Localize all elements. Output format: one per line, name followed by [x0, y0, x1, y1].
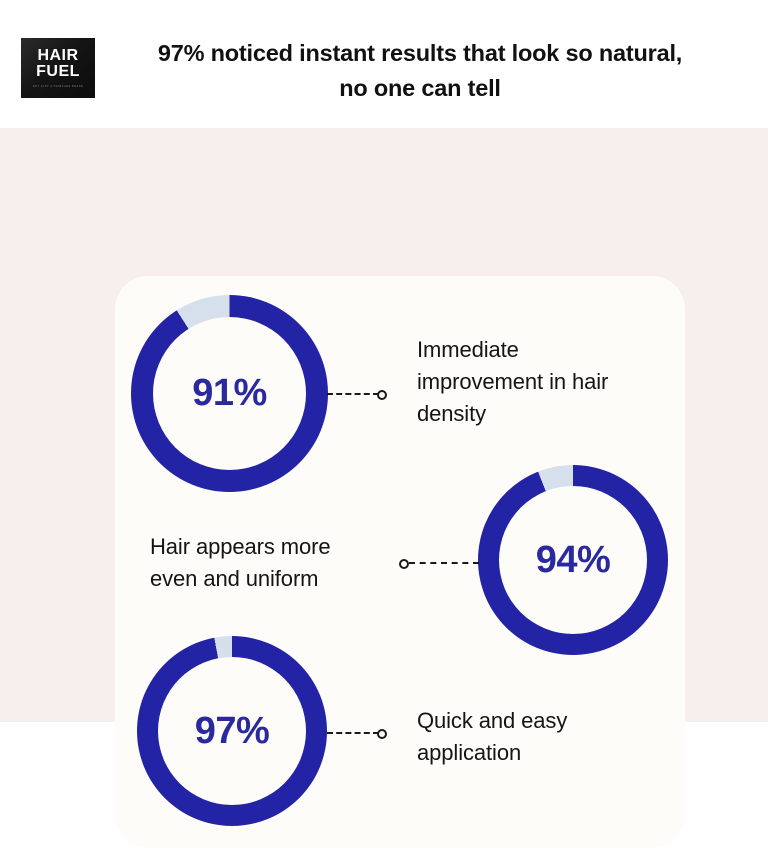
logo-text-line-2: FUEL [36, 64, 80, 80]
stat-label-line-1: Hair appears more [150, 534, 331, 559]
stat-label-application: Quick and easy application [417, 705, 647, 769]
brand-logo: HAIR FUEL NOT JUST A HAIRCARE BRAND [21, 38, 95, 98]
connector-dashed-line [327, 393, 379, 395]
stat-label-density: Immediate improvement in hair density [417, 334, 652, 430]
connector-uniformity [399, 562, 479, 564]
connector-endpoint-circle-icon [399, 559, 409, 569]
content-panel: 91% Immediate improvement in hair densit… [0, 128, 768, 722]
logo-tagline: NOT JUST A HAIRCARE BRAND [33, 85, 84, 88]
donut-value-application: 97% [137, 636, 327, 826]
page-header: HAIR FUEL NOT JUST A HAIRCARE BRAND 97% … [0, 0, 768, 128]
page-title-line-1: 97% noticed instant results that look so… [110, 36, 730, 71]
stat-label-uniformity: Hair appears more even and uniform [150, 531, 400, 595]
stat-label-line-1: Quick and easy [417, 708, 567, 733]
stat-label-line-2: application [417, 740, 521, 765]
connector-application [327, 732, 389, 734]
connector-endpoint-circle-icon [377, 729, 387, 739]
connector-dashed-line [409, 562, 479, 564]
page-title-line-2: no one can tell [110, 71, 730, 106]
stat-label-line-2: even and uniform [150, 566, 318, 591]
donut-chart-density: 91% [131, 295, 328, 492]
donut-chart-application: 97% [137, 636, 327, 826]
connector-density [327, 393, 389, 395]
page-title: 97% noticed instant results that look so… [110, 36, 730, 106]
stat-label-line-3: density [417, 401, 486, 426]
connector-endpoint-circle-icon [377, 390, 387, 400]
connector-dashed-line [327, 732, 379, 734]
donut-chart-uniformity: 94% [478, 465, 668, 655]
logo-text-line-1: HAIR [37, 48, 78, 64]
donut-value-uniformity: 94% [478, 465, 668, 655]
stat-label-line-1: Immediate [417, 337, 519, 362]
donut-value-density: 91% [131, 295, 328, 492]
stat-label-line-2: improvement in hair [417, 369, 608, 394]
